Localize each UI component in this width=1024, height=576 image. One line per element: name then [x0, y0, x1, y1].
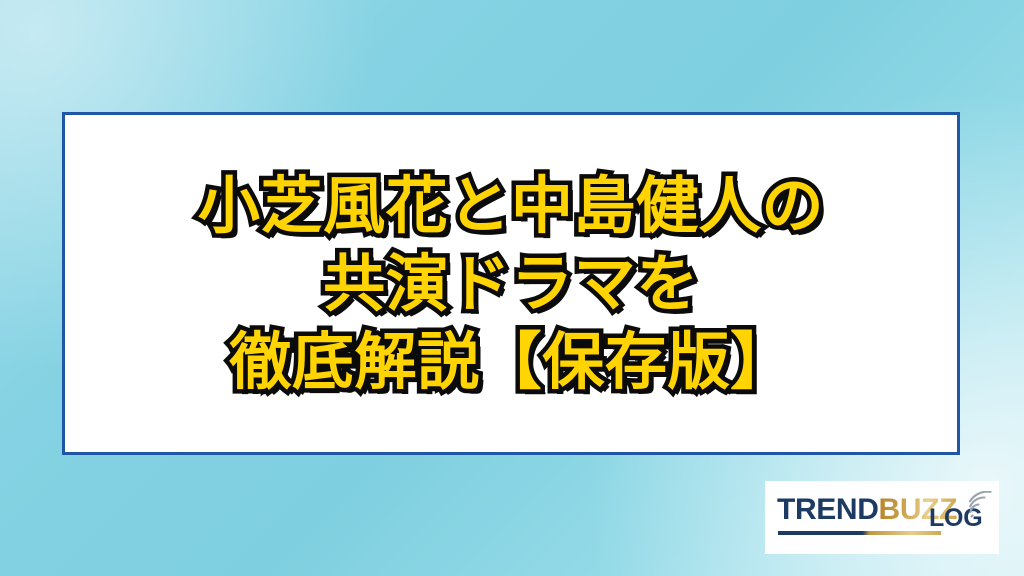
brand-logo[interactable]: TRENDBUZZ LOG	[765, 481, 999, 554]
thumbnail-canvas: 小芝風花と中島健人の 共演ドラマを 徹底解説【保存版】 TRENDBUZZ LO…	[0, 0, 1024, 576]
title-line-2: 共演ドラマを	[83, 244, 939, 322]
title-card: 小芝風花と中島健人の 共演ドラマを 徹底解説【保存版】	[62, 112, 960, 455]
logo-word-trend: TREND	[777, 493, 879, 526]
title-text-block: 小芝風花と中島健人の 共演ドラマを 徹底解説【保存版】	[65, 166, 957, 400]
wifi-signal-icon	[967, 491, 997, 519]
logo-inner: TRENDBUZZ LOG	[777, 491, 1009, 546]
title-line-3: 徹底解説【保存版】	[83, 323, 939, 401]
title-line-1: 小芝風花と中島健人の	[83, 166, 939, 244]
logo-underline-rule	[778, 531, 941, 535]
